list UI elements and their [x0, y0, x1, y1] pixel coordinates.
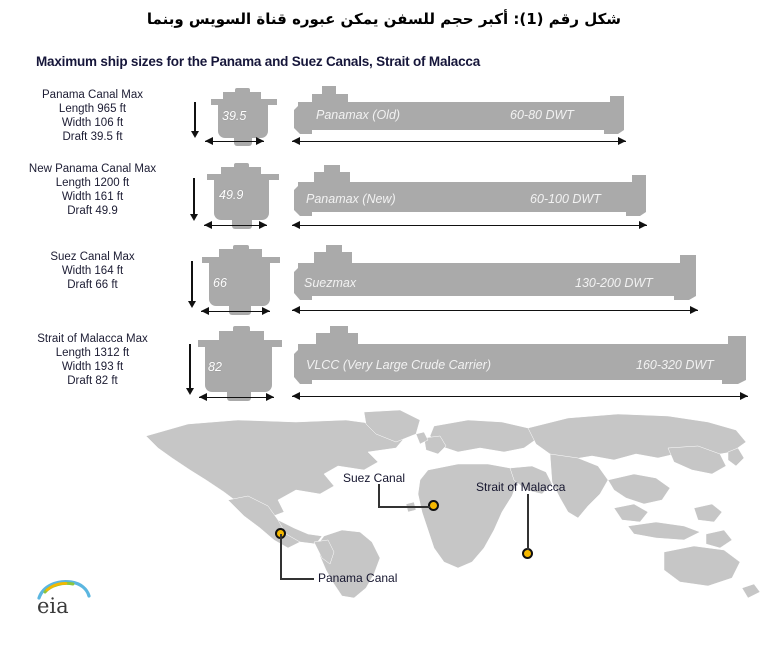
superstructure	[219, 249, 262, 262]
length-arrow-suez	[292, 306, 698, 315]
superstructure	[219, 331, 264, 345]
spec-line: Width 193 ft	[0, 360, 185, 374]
ship-class-name: Suezmax	[304, 276, 356, 290]
length-arrow-malacca	[292, 392, 748, 401]
spec-line: Draft 82 ft	[0, 374, 185, 388]
superstructure	[223, 92, 261, 104]
ship-profile-malacca: VLCC (Very Large Crude Carrier) 160-320 …	[288, 324, 750, 392]
ship-dwt-label: 60-80 DWT	[510, 108, 574, 122]
ship-row-suez: Suez Canal Max Width 164 ft Draft 66 ft …	[0, 242, 768, 324]
width-arrow-horizontal	[201, 307, 270, 316]
ship-class-name: Panamax (Old)	[316, 108, 400, 122]
spec-line: Draft 66 ft	[0, 278, 185, 292]
spec-line: Width 164 ft	[0, 264, 185, 278]
spec-line: Length 1312 ft	[0, 346, 185, 360]
ship-class-name: VLCC (Very Large Crude Carrier)	[306, 358, 491, 372]
ship-profile-panama-old: Panamax (Old) 60-80 DWT	[288, 84, 628, 142]
ship-profile-panama-new: Panamax (New) 60-100 DWT	[288, 164, 650, 224]
spec-label-panama-new: New Panama Canal Max Length 1200 ft Widt…	[0, 162, 185, 218]
eia-logo-text: eia	[37, 594, 69, 618]
spec-line: Draft 49.9	[0, 204, 185, 218]
ship-row-malacca: Strait of Malacca Max Length 1312 ft Wid…	[0, 324, 768, 406]
spec-line: Strait of Malacca Max	[0, 332, 185, 346]
leader-line-suez-horizontal	[378, 506, 430, 508]
superstructure	[221, 167, 261, 179]
spec-line: Length 965 ft	[0, 102, 185, 116]
width-arrow-horizontal	[205, 137, 264, 146]
spec-line: New Panama Canal Max	[0, 162, 185, 176]
ship-dwt-label: 160-320 DWT	[636, 358, 714, 372]
leader-line-panama-vertical	[280, 534, 282, 580]
draft-value: 39.5	[222, 109, 246, 123]
ship-class-name: Panamax (New)	[306, 192, 396, 206]
spec-label-suez: Suez Canal Max Width 164 ft Draft 66 ft	[0, 250, 185, 292]
ship-row-panama-old: Panama Canal Max Length 965 ft Width 106…	[0, 84, 768, 156]
map-label-suez-canal: Suez Canal	[343, 471, 405, 485]
length-arrow-panama-new	[292, 221, 647, 230]
width-arrow-horizontal	[204, 221, 267, 230]
cross-section-panama-new: 49.9	[203, 160, 287, 230]
length-arrow-panama-old	[292, 137, 626, 146]
leader-line-panama-horizontal	[280, 578, 314, 580]
spec-label-malacca: Strait of Malacca Max Length 1312 ft Wid…	[0, 332, 185, 388]
ship-comparison-rows: Panama Canal Max Length 965 ft Width 106…	[0, 84, 768, 404]
cross-section-malacca: 82	[198, 324, 292, 404]
ship-profile-suez: Suezmax 130-200 DWT	[288, 244, 700, 308]
spec-line: Draft 39.5 ft	[0, 130, 185, 144]
spec-line: Width 161 ft	[0, 190, 185, 204]
world-map: Panama Canal Suez Canal Strait of Malacc…	[128, 408, 768, 608]
spec-line: Length 1200 ft	[0, 176, 185, 190]
eia-logo: eia	[33, 578, 95, 620]
arabic-figure-title: شكل رقم (1): أكبر حجم للسفن يمكن عبوره ق…	[0, 10, 768, 28]
spec-line: Panama Canal Max	[0, 88, 185, 102]
leader-line-malacca-vertical	[527, 494, 529, 550]
map-label-panama-canal: Panama Canal	[318, 571, 397, 585]
ship-dwt-label: 60-100 DWT	[530, 192, 601, 206]
spec-line: Suez Canal Max	[0, 250, 185, 264]
draft-value: 49.9	[219, 188, 243, 202]
leader-line-suez-vertical	[378, 484, 380, 507]
width-arrow-horizontal	[199, 393, 274, 402]
ship-row-panama-new: New Panama Canal Max Length 1200 ft Widt…	[0, 160, 768, 240]
draft-value: 66	[213, 276, 227, 290]
map-label-strait-of-malacca: Strait of Malacca	[476, 480, 565, 494]
spec-line: Width 106 ft	[0, 116, 185, 130]
draft-value: 82	[208, 360, 222, 374]
spec-label-panama-old: Panama Canal Max Length 965 ft Width 106…	[0, 88, 185, 144]
english-chart-title: Maximum ship sizes for the Panama and Su…	[36, 54, 480, 69]
ship-dwt-label: 130-200 DWT	[575, 276, 653, 290]
